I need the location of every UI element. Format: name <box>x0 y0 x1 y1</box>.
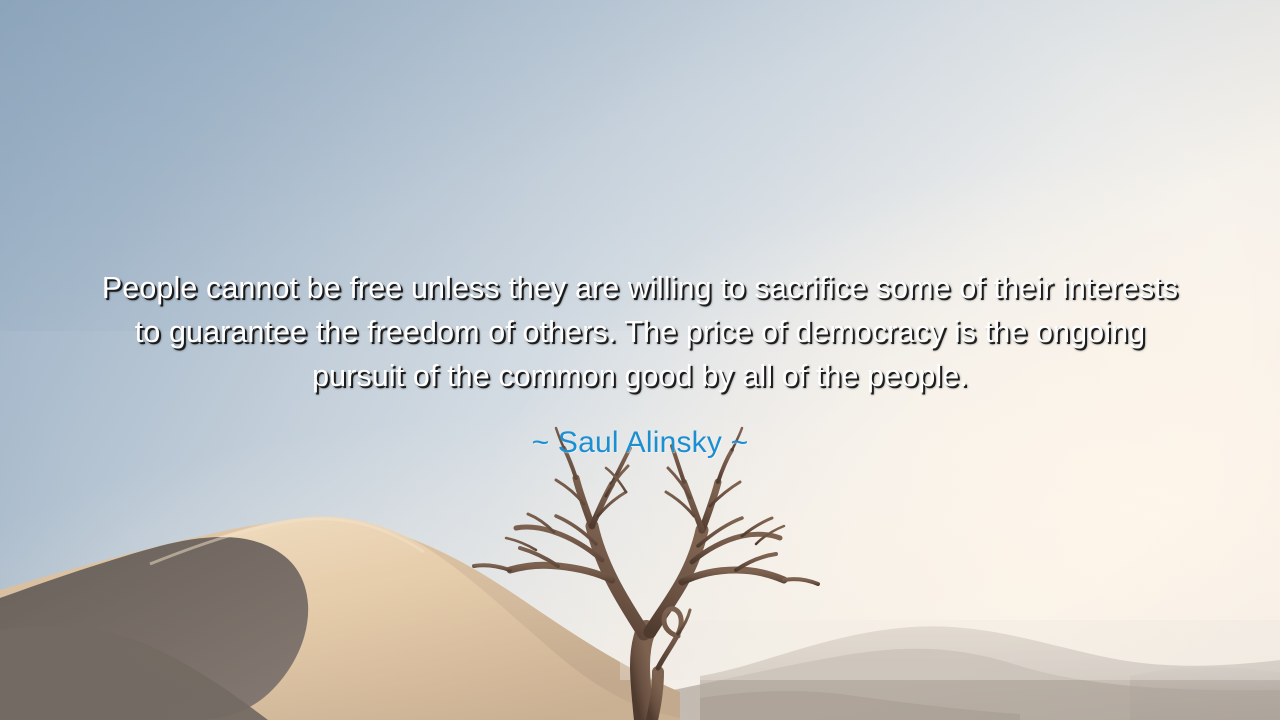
quote-image-canvas: People cannot be free unless they are wi… <box>0 0 1280 720</box>
dead-acacia-tree <box>406 420 886 720</box>
quote-block: People cannot be free unless they are wi… <box>85 266 1195 463</box>
quote-text: People cannot be free unless they are wi… <box>85 266 1195 398</box>
quote-author: ~ Saul Alinsky ~ <box>85 423 1195 463</box>
